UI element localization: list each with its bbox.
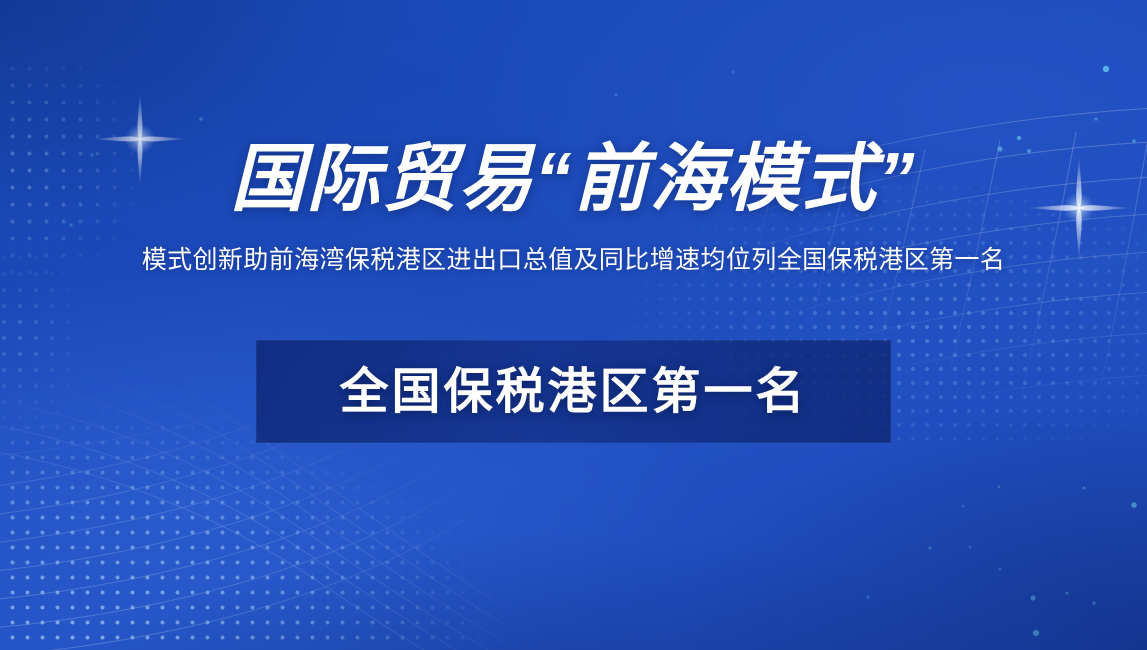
highlight-banner-box: 全国保税港区第一名 bbox=[256, 340, 891, 443]
highlight-banner-text: 全国保税港区第一名 bbox=[339, 364, 807, 420]
banner-graphic: 国际贸易“前海模式” 模式创新助前海湾保税港区进出口总值及同比增速均位列全国保税… bbox=[0, 0, 1147, 650]
banner-title: 国际贸易“前海模式” bbox=[0, 138, 1147, 220]
banner-subtitle: 模式创新助前海湾保税港区进出口总值及同比增速均位列全国保税港区第一名 bbox=[0, 243, 1147, 277]
banner-content: 国际贸易“前海模式” 模式创新助前海湾保税港区进出口总值及同比增速均位列全国保税… bbox=[0, 0, 1147, 650]
